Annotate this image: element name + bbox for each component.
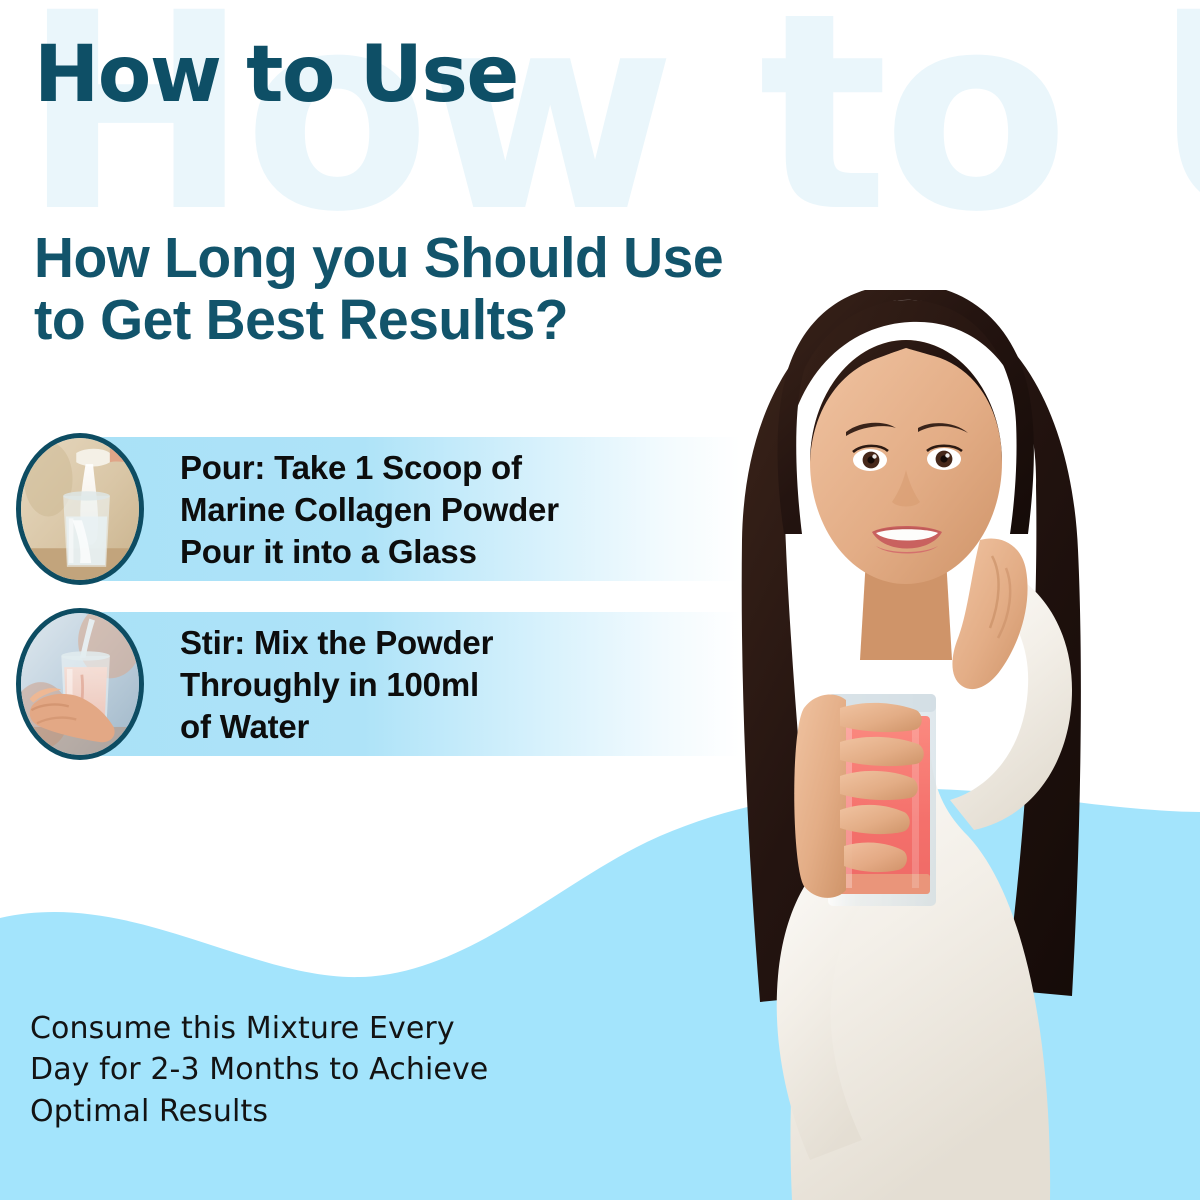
step-line-2: Marine Collagen Powder — [180, 489, 559, 531]
step-line-3: Pour it into a Glass — [180, 531, 559, 573]
subtitle-line-1: How Long you Should Use — [34, 228, 1014, 290]
pour-powder-into-glass-photo — [16, 433, 144, 585]
steps-list: Pour: Take 1 Scoop of Marine Collagen Po… — [0, 433, 760, 783]
footer-line-1: Consume this Mixture Every — [30, 1008, 630, 1049]
step-text: Stir: Mix the Powder Throughly in 100ml … — [180, 622, 493, 749]
step-line-2: Throughly in 100ml — [180, 664, 493, 706]
infographic-canvas: How to U How to Use How Long you Should … — [0, 0, 1200, 1200]
stir-glass-in-hand-photo — [16, 608, 144, 760]
step-line-1: Pour: Take 1 Scoop of — [180, 447, 559, 489]
footer-line-2: Day for 2-3 Months to Achieve — [30, 1049, 630, 1090]
step-line-3: of Water — [180, 706, 493, 748]
step-line-1: Stir: Mix the Powder — [180, 622, 493, 664]
footer-line-3: Optimal Results — [30, 1091, 630, 1132]
footer-note: Consume this Mixture Every Day for 2-3 M… — [30, 1008, 630, 1132]
step-text: Pour: Take 1 Scoop of Marine Collagen Po… — [180, 447, 559, 574]
list-item: Pour: Take 1 Scoop of Marine Collagen Po… — [0, 433, 760, 585]
page-subtitle: How Long you Should Use to Get Best Resu… — [34, 228, 1014, 351]
page-title: How to Use — [34, 36, 518, 114]
subtitle-line-2: to Get Best Results? — [34, 290, 1014, 352]
list-item: Stir: Mix the Powder Throughly in 100ml … — [0, 608, 760, 760]
